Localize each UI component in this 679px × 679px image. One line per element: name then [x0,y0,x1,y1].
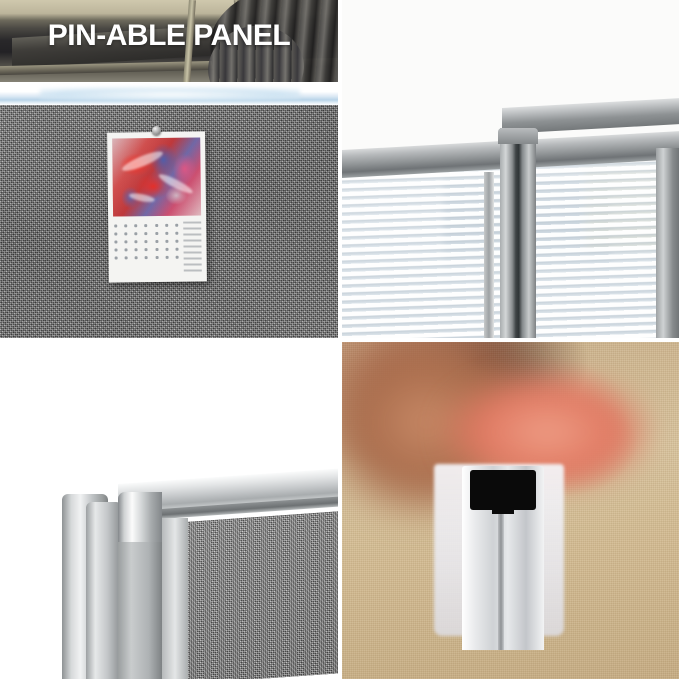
frame-center-post [500,128,536,338]
calendar-artwork [112,137,201,216]
post-cap-icon [498,128,538,144]
panel-toolless-assembly: TOOLLESS ASSEMBLY [342,342,679,679]
frame-corner-post [656,148,679,338]
grid-divider-horizontal [0,338,679,342]
brush-stroke-icon [157,172,194,197]
extrusion-rib [498,514,504,650]
extrusion-channel-notch [492,502,514,514]
grey-fabric-panel-insert [186,511,338,679]
calendar-date-grid [114,224,179,269]
brush-stroke-icon [120,148,164,174]
panel-pin-able-panel: PIN-ABLE PANEL [0,0,338,338]
feature-grid-infographic: PIN-ABLE PANEL CUSTOMIZABLE CONFIGURATIO… [0,0,679,679]
calendar-month-label [183,221,202,273]
frame-mullion [484,172,494,338]
panel-customizable-configuration: CUSTOMIZABLE CONFIGURATION [342,0,679,338]
frame-vertical-edge [162,518,188,679]
push-pin-icon [152,126,161,135]
panel-light-aircraft-aluminum-frame: LIGHT AIRCRAFT ALUMINUM FRAME [0,342,338,679]
pinned-calendar [107,131,207,282]
brush-stroke-icon [128,192,155,204]
light-glow [40,88,300,101]
aluminum-mid-post [86,502,122,679]
aluminum-corner-post-shade [118,542,162,679]
headline-pin-able-panel: PIN-ABLE PANEL [0,20,338,52]
